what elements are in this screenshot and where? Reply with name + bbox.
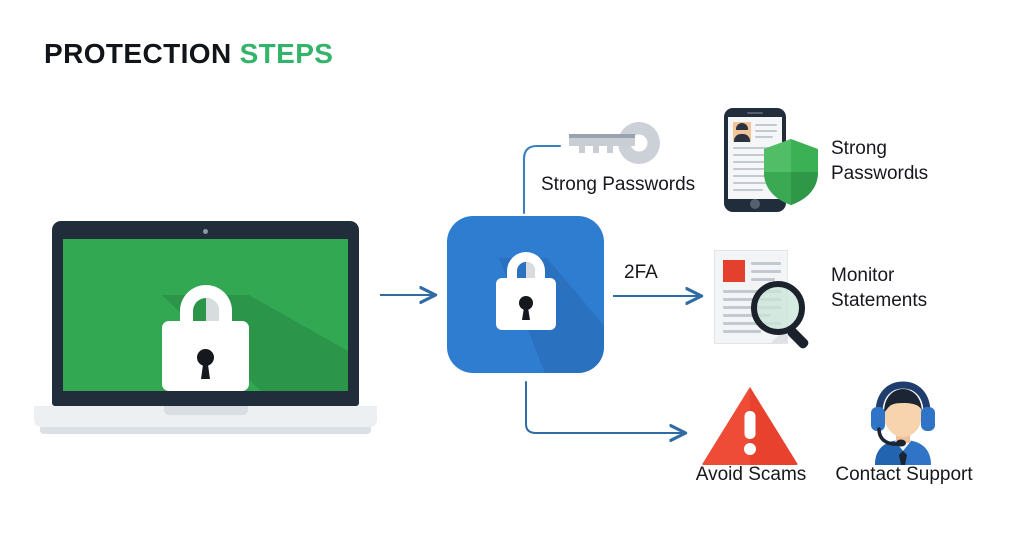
avatar (733, 122, 751, 142)
magnifier-icon (750, 280, 820, 350)
support-agent-icon (855, 377, 951, 465)
item-label-contact-support: Contact Support (828, 462, 980, 487)
key-icon (563, 122, 661, 164)
phone-home-button (750, 199, 760, 209)
document-magnifier-icon (714, 250, 820, 350)
item-label-strong-passwords-key: Strong Passwords (541, 172, 721, 197)
item-label-strong-passwords-shield: Strong Passwordɩs (831, 136, 1011, 186)
document-highlight-block (723, 260, 745, 282)
item-label-avoid-scams: Avoid Scams (676, 462, 826, 487)
infographic-canvas: PROTECTIONSTEPS (0, 0, 1024, 559)
warning-triangle-icon (702, 385, 798, 465)
phone-speaker (747, 112, 763, 114)
connector-label-2fa: 2FA (624, 260, 658, 285)
phone-shield-icon (716, 108, 824, 212)
shield-icon (762, 138, 820, 206)
item-label-monitor-statements: Monitor Statements (831, 263, 1021, 313)
connector-branch-bottom (526, 382, 684, 433)
